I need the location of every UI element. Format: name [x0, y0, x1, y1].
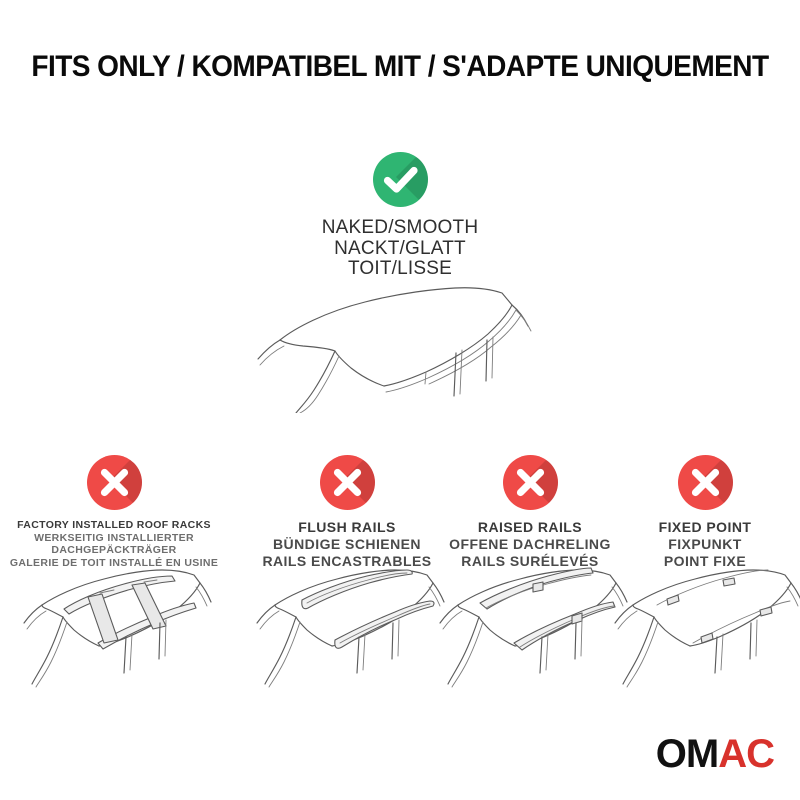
car-roof-factory-racks-illustration	[14, 553, 214, 688]
compatible-labels: NAKED/SMOOTH NACKT/GLATT TOIT/LISSE	[322, 218, 479, 280]
incompatible-item-flush-rails: FLUSH RAILS BÜNDIGE SCHIENEN RAILS ENCAS…	[240, 455, 454, 570]
car-roof-fixed-point-illustration	[605, 553, 800, 688]
incompatible-item-factory-racks: FACTORY INSTALLED ROOF RACKS WERKSEITIG …	[8, 455, 220, 569]
compatible-label-de: NACKT/GLATT	[322, 239, 479, 260]
page-title: FITS ONLY / KOMPATIBEL MIT / S'ADAPTE UN…	[26, 50, 774, 84]
label-line-de-1: WERKSEITIG INSTALLIERTER	[8, 532, 220, 545]
label-line-de: FIXPUNKT	[618, 536, 792, 553]
label-line-en: FIXED POINT	[618, 519, 792, 536]
compatible-label-fr: TOIT/LISSE	[322, 259, 479, 280]
cross-circle-icon	[503, 455, 558, 510]
logo-text-om: OM	[656, 732, 718, 776]
incompatible-item-fixed-point: FIXED POINT FIXPUNKT POINT FIXE	[618, 455, 792, 570]
compatible-label-en: NAKED/SMOOTH	[322, 218, 479, 239]
car-roof-smooth-illustration	[240, 278, 560, 413]
label-line-en: FLUSH RAILS	[240, 519, 454, 536]
car-roof-raised-rails-illustration	[430, 553, 630, 688]
incompatible-item-raised-rails: RAISED RAILS OFFENE DACHRELING RAILS SUR…	[430, 455, 630, 570]
incompatible-section: FACTORY INSTALLED ROOF RACKS WERKSEITIG …	[0, 455, 800, 695]
fitment-infographic: FITS ONLY / KOMPATIBEL MIT / S'ADAPTE UN…	[0, 0, 800, 800]
cross-circle-icon	[678, 455, 733, 510]
cross-circle-icon	[320, 455, 375, 510]
omac-logo: OMAC	[656, 734, 774, 774]
logo-text-ac: AC	[718, 732, 774, 776]
car-roof-flush-rails-illustration	[247, 553, 447, 688]
label-line-de: OFFENE DACHRELING	[430, 536, 630, 553]
cross-circle-icon	[87, 455, 142, 510]
label-line-en: RAISED RAILS	[430, 519, 630, 536]
compatible-section: NAKED/SMOOTH NACKT/GLATT TOIT/LISSE	[0, 152, 800, 280]
check-circle-icon	[373, 152, 428, 207]
label-line-en: FACTORY INSTALLED ROOF RACKS	[8, 519, 220, 532]
label-line-de: BÜNDIGE SCHIENEN	[240, 536, 454, 553]
